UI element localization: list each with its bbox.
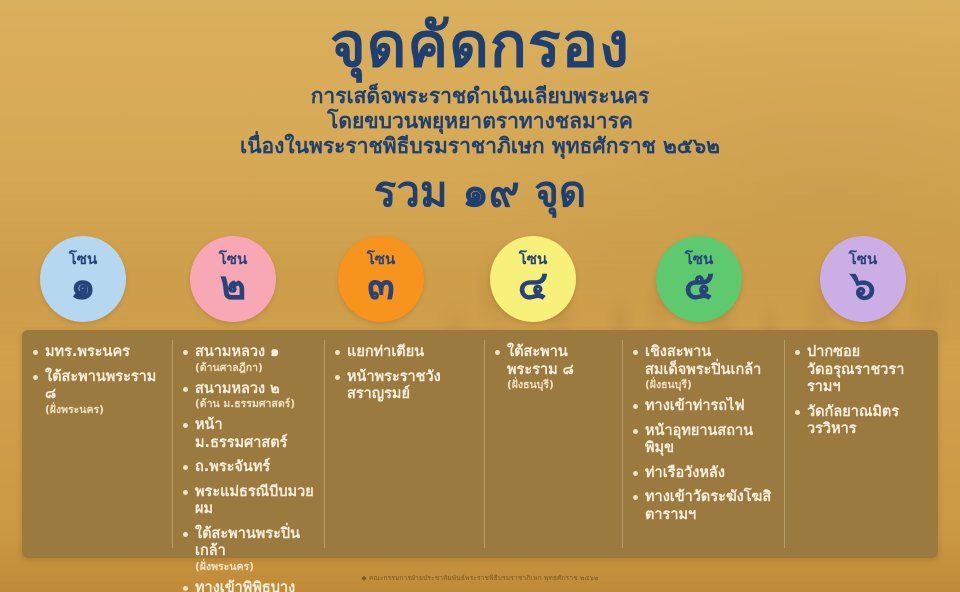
checkpoint-note: (ด้านศาลฎีกา) (195, 362, 316, 374)
checkpoint-name: ทางเข้าท่ารถไฟ (645, 398, 745, 414)
checkpoint-note: (ด้าน ม.ธรรมศาสตร์) (195, 398, 316, 410)
infographic-poster: จุดคัดกรอง การเสด็จพระราชดำเนินเลียบพระน… (0, 0, 960, 592)
checkpoint-name: ถ.พระจันทร์ (195, 459, 270, 475)
checkpoint-item: หน้าพระราชวังสราญรมย์ (334, 369, 476, 404)
subtitle-line-1: การเสด็จพระราชดำเนินเลียบพระนคร (0, 84, 960, 109)
checkpoint-name: ทางเข้าวัดระฆังโฆสิตารามฯ (645, 489, 771, 523)
checkpoint-item: มทร.พระนคร (32, 344, 164, 362)
checkpoint-note: (ฝั่งธนบุรี) (645, 379, 776, 391)
checkpoint-item: ทางเข้าท่ารถไฟ (632, 398, 776, 416)
checkpoint-note: (ฝั่งธนบุรี) (507, 379, 614, 391)
checkpoint-item: สนามหลวง ๒(ด้าน ม.ธรรมศาสตร์) (182, 381, 316, 411)
checkpoint-item: ปากซอย วัดอรุณราชวรารามฯ (794, 344, 930, 397)
zone-numeral: ๖ (850, 265, 875, 307)
checkpoint-item: วัดกัลยาณมิตรวรวิหาร (794, 404, 930, 439)
checkpoint-list-panel: มทร.พระนครใต้สะพานพระราม ๘(ฝั่งพระนคร)สน… (22, 330, 938, 558)
subtitle-line-2: โดยขบวนพยุหยาตราทางชลมารค (0, 109, 960, 134)
zone-circle-row: โซน๑โซน๒โซน๓โซน๔โซน๕โซน๖ (0, 236, 960, 332)
checkpoint-name: หน้าพระราชวังสราญรมย์ (347, 369, 441, 403)
checkpoint-name: วัดกัลยาณมิตรวรวิหาร (807, 404, 899, 438)
checkpoint-name: ใต้สะพานพระราม ๘ (507, 344, 574, 378)
checkpoint-item: สนามหลวง ๑(ด้านศาลฎีกา) (182, 344, 316, 374)
checkpoint-column-1: มทร.พระนครใต้สะพานพระราม ๘(ฝั่งพระนคร) (22, 330, 172, 558)
zone-circle-1[interactable]: โซน๑ (40, 236, 126, 322)
checkpoint-column-2: สนามหลวง ๑(ด้านศาลฎีกา)สนามหลวง ๒(ด้าน ม… (172, 330, 324, 558)
zone-numeral: ๒ (220, 265, 246, 307)
footer-bullet-icon: ◆ (361, 574, 366, 582)
zone-circle-4[interactable]: โซน๔ (490, 236, 576, 322)
checkpoint-list: มทร.พระนครใต้สะพานพระราม ๘(ฝั่งพระนคร) (32, 344, 164, 416)
checkpoint-note: (ฝั่งพระนคร) (45, 404, 164, 416)
checkpoint-column-6: ปากซอย วัดอรุณราชวรารามฯวัดกัลยาณมิตรวรว… (784, 330, 938, 558)
checkpoint-name: หน้า ม.ธรรมศาสตร์ (195, 417, 287, 451)
checkpoint-list: แยกท่าเตียนหน้าพระราชวังสราญรมย์ (334, 344, 476, 404)
checkpoint-name: ท่าเรือวังหลัง (645, 465, 725, 481)
checkpoint-column-3: แยกท่าเตียนหน้าพระราชวังสราญรมย์ (324, 330, 484, 558)
checkpoint-item: ท่าเรือวังหลัง (632, 465, 776, 483)
checkpoint-list: สนามหลวง ๑(ด้านศาลฎีกา)สนามหลวง ๒(ด้าน ม… (182, 344, 316, 592)
checkpoint-name: ปากซอย วัดอรุณราชวรารามฯ (807, 344, 904, 395)
footer-text: คณะกรรมการฝ่ายประชาสัมพันธ์พระราชพิธีบรม… (369, 574, 599, 582)
checkpoint-item: หน้า ม.ธรรมศาสตร์ (182, 417, 316, 452)
checkpoint-name: สนามหลวง ๑ (195, 344, 279, 360)
checkpoint-name: พระแม่ธรณีบีบมวยผม (195, 484, 314, 518)
total-points-label: รวม ๑๙ จุด (0, 168, 960, 216)
checkpoint-name: ใต้สะพานพระปิ่นเกล้า (195, 526, 300, 560)
checkpoint-name: มทร.พระนคร (45, 344, 130, 360)
zone-circle-5[interactable]: โซน๕ (656, 236, 742, 322)
zone-numeral: ๑ (70, 265, 95, 307)
header: จุดคัดกรอง การเสด็จพระราชดำเนินเลียบพระน… (0, 0, 960, 216)
zone-circle-2[interactable]: โซน๒ (190, 236, 276, 322)
checkpoint-note: (ฝั่งพระนคร) (195, 561, 316, 573)
zone-numeral: ๔ (518, 265, 548, 307)
checkpoint-item: แยกท่าเตียน (334, 344, 476, 362)
checkpoint-item: หน้าอุทยานสถานพิมุข (632, 423, 776, 458)
zone-circle-6[interactable]: โซน๖ (820, 236, 906, 322)
zone-circle-3[interactable]: โซน๓ (338, 236, 424, 322)
checkpoint-name: สนามหลวง ๒ (195, 381, 280, 397)
checkpoint-item: พระแม่ธรณีบีบมวยผม (182, 484, 316, 519)
checkpoint-list: ปากซอย วัดอรุณราชวรารามฯวัดกัลยาณมิตรวรว… (794, 344, 930, 439)
checkpoint-item: ถ.พระจันทร์ (182, 459, 316, 477)
checkpoint-item: ใต้สะพานพระปิ่นเกล้า(ฝั่งพระนคร) (182, 526, 316, 573)
checkpoint-name: ใต้สะพานพระราม ๘ (45, 369, 156, 403)
footer: ◆ คณะกรรมการฝ่ายประชาสัมพันธ์พระราชพิธีบ… (0, 574, 960, 583)
checkpoint-name: แยกท่าเตียน (347, 344, 424, 360)
checkpoint-name: หน้าอุทยานสถานพิมุข (645, 423, 753, 457)
checkpoint-item: ใต้สะพานพระราม ๘(ฝั่งพระนคร) (32, 369, 164, 416)
checkpoint-column-5: เชิงสะพาน สมเด็จพระปิ่นเกล้า(ฝั่งธนบุรี)… (622, 330, 784, 558)
subtitle-line-3: เนื่องในพระราชพิธีบรมราชาภิเษก พุทธศักรา… (0, 134, 960, 159)
checkpoint-item: ใต้สะพานพระราม ๘(ฝั่งธนบุรี) (494, 344, 614, 391)
checkpoint-item: เชิงสะพาน สมเด็จพระปิ่นเกล้า(ฝั่งธนบุรี) (632, 344, 776, 391)
checkpoint-item: ทางเข้าวัดระฆังโฆสิตารามฯ (632, 489, 776, 524)
checkpoint-list: ใต้สะพานพระราม ๘(ฝั่งธนบุรี) (494, 344, 614, 391)
checkpoint-list: เชิงสะพาน สมเด็จพระปิ่นเกล้า(ฝั่งธนบุรี)… (632, 344, 776, 524)
checkpoint-name: เชิงสะพาน สมเด็จพระปิ่นเกล้า (645, 344, 761, 378)
zone-numeral: ๕ (684, 265, 714, 307)
zone-numeral: ๓ (367, 265, 394, 307)
checkpoint-column-4: ใต้สะพานพระราม ๘(ฝั่งธนบุรี) (484, 330, 622, 558)
page-title: จุดคัดกรอง (0, 14, 960, 78)
